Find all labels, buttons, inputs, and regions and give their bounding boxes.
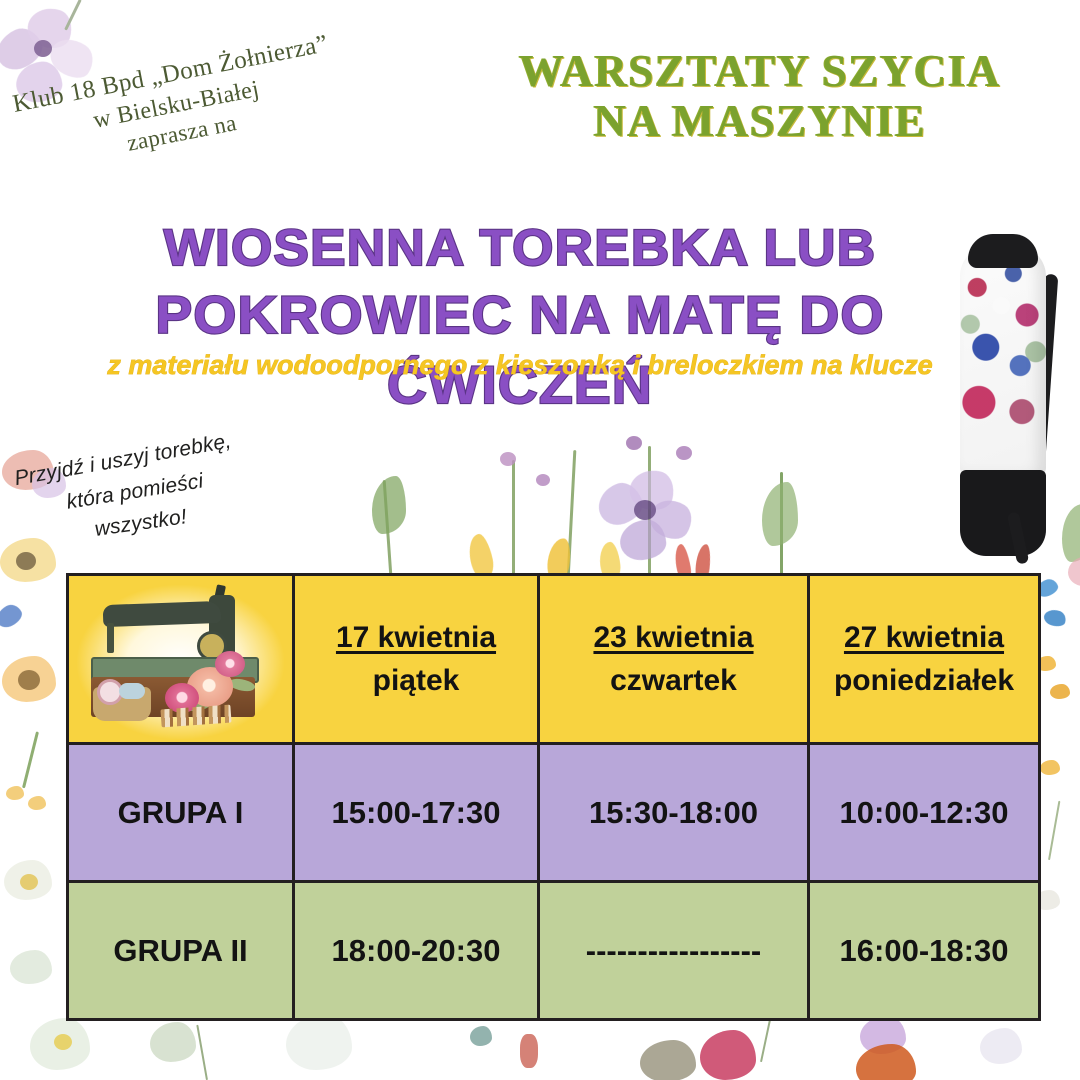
table-row-group-2: GRUPA II 18:00-20:30 ----------------- 1… (68, 882, 1040, 1020)
main-headline-line-1: WIOSENNA TOREBKA LUB (164, 219, 877, 276)
header-day-2: czwartek (541, 659, 806, 703)
header-day-1: piątek (296, 659, 536, 703)
group-1-time-1: 15:00-17:30 (294, 744, 539, 882)
sewing-machine-icon (69, 579, 292, 739)
header-cell-date-3: 27 kwietnia poniedziałek (809, 575, 1040, 744)
header-day-3: poniedziałek (811, 659, 1037, 703)
organizer-note: Klub 18 Bpd „Dom Żołnierza” w Bielsku-Bi… (0, 24, 361, 182)
workshop-title-line-2: NA MASZYNIE (460, 96, 1060, 146)
header-date-3: 27 kwietnia (811, 616, 1037, 660)
group-2-label: GRUPA II (68, 882, 294, 1020)
headline-subtitle: z materiału wodoodpornego z kieszonką i … (60, 350, 980, 381)
table-header-row: 17 kwietnia piątek 23 kwietnia czwartek … (68, 575, 1040, 744)
header-cell-date-2: 23 kwietnia czwartek (539, 575, 809, 744)
schedule-table: 17 kwietnia piątek 23 kwietnia czwartek … (66, 573, 1041, 1021)
group-2-time-3: 16:00-18:30 (809, 882, 1040, 1020)
header-cell-date-1: 17 kwietnia piątek (294, 575, 539, 744)
sewing-machine-image-cell (68, 575, 294, 744)
group-1-time-2: 15:30-18:00 (539, 744, 809, 882)
group-2-time-1: 18:00-20:30 (294, 882, 539, 1020)
main-headline: WIOSENNA TOREBKA LUB POKROWIEC NA MATĘ D… (42, 214, 999, 421)
poster-canvas: Klub 18 Bpd „Dom Żołnierza” w Bielsku-Bi… (0, 0, 1080, 1080)
handwritten-note: Przyjdź i uszyj torebkę, która pomieści … (0, 429, 257, 556)
group-1-time-3: 10:00-12:30 (809, 744, 1040, 882)
workshop-title-line-1: WARSZTATY SZYCIA (460, 46, 1060, 96)
workshop-title: WARSZTATY SZYCIA NA MASZYNIE (460, 46, 1060, 147)
violet-flower-center-icon (598, 470, 694, 562)
group-1-label: GRUPA I (68, 744, 294, 882)
bag-base (960, 470, 1046, 556)
header-date-1: 17 kwietnia (296, 616, 536, 660)
table-row-group-1: GRUPA I 15:00-17:30 15:30-18:00 10:00-12… (68, 744, 1040, 882)
group-2-time-2: ----------------- (539, 882, 809, 1020)
header-date-2: 23 kwietnia (541, 616, 806, 660)
